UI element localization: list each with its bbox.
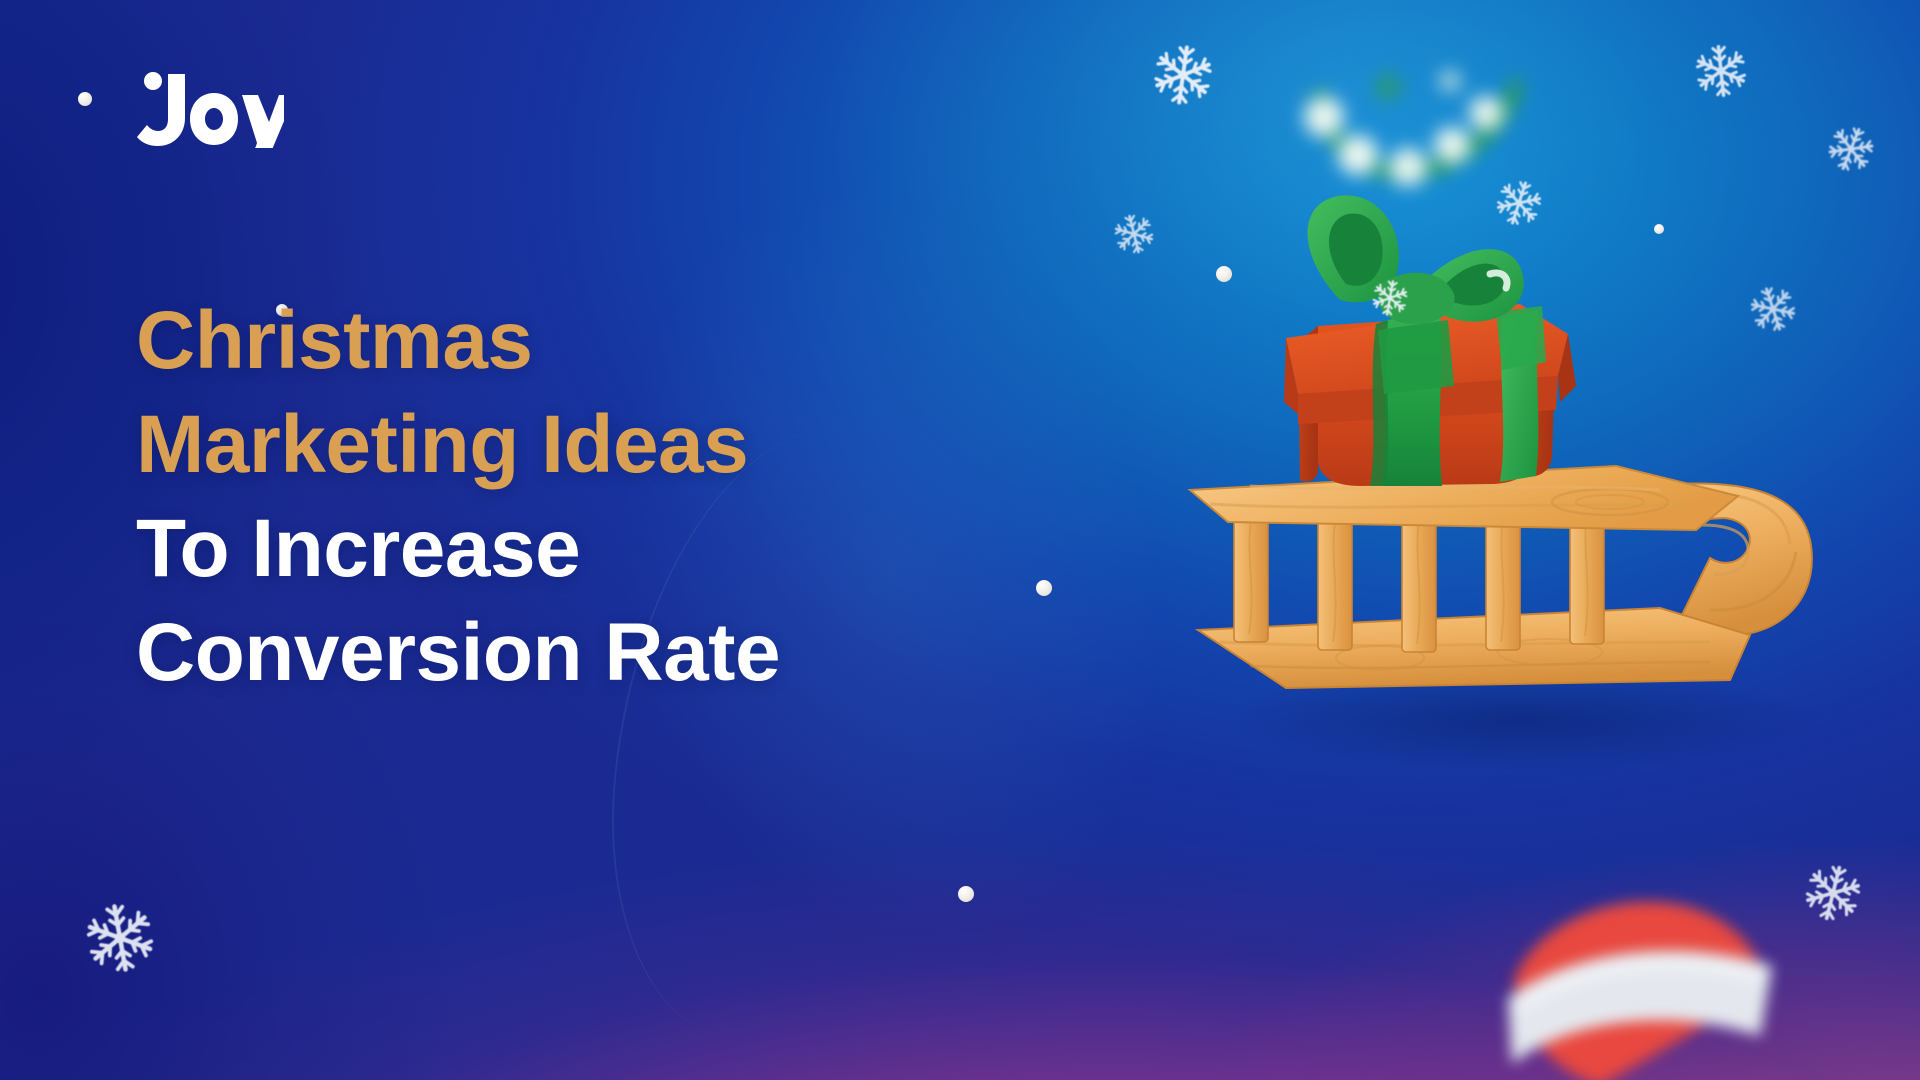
headline-line-4: Conversion Rate: [136, 612, 780, 694]
headline-line-3: To Increase: [136, 508, 780, 590]
page-title: Christmas Marketing Ideas To Increase Co…: [136, 300, 780, 716]
hero-banner: Christmas Marketing Ideas To Increase Co…: [0, 0, 1920, 1080]
headline-line-2: Marketing Ideas: [136, 404, 780, 486]
sled-with-gift-illustration: [1190, 290, 1910, 830]
joy-wordmark-icon: [134, 72, 284, 148]
brand-logo[interactable]: [134, 72, 284, 148]
headline-line-1: Christmas: [136, 300, 780, 382]
